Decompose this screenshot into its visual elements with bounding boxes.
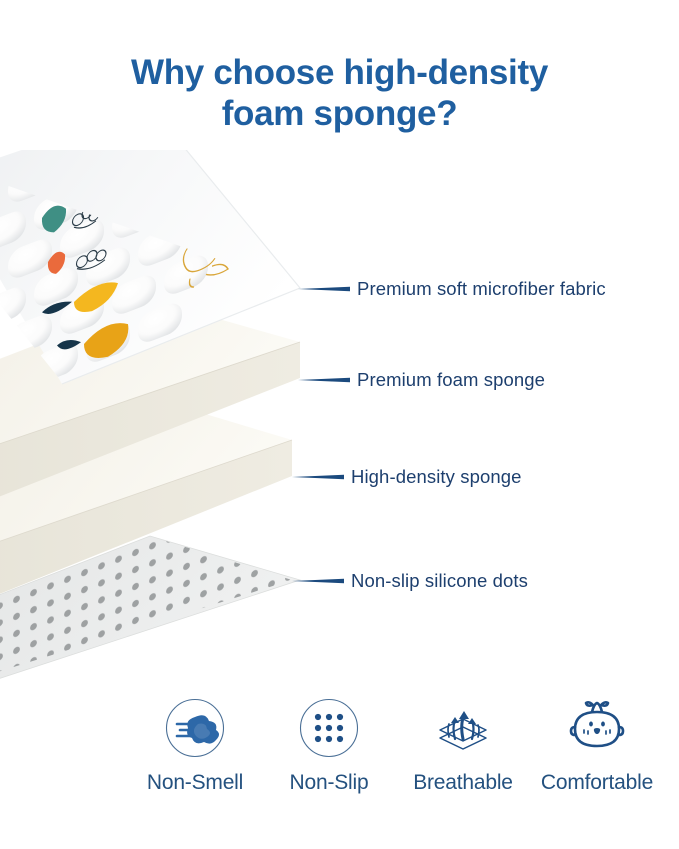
page-title-line-1: Why choose high-density xyxy=(0,52,679,93)
callout-label: Non-slip silicone dots xyxy=(351,570,528,592)
exploded-mattress-diagram xyxy=(0,150,340,690)
callout-label: High-density sponge xyxy=(351,466,522,488)
callout-premium-foam-sponge: Premium foam sponge xyxy=(298,367,545,393)
callout-premium-soft-microfiber-fabric: Premium soft microfiber fabric xyxy=(298,276,606,302)
callout-non-slip-silicone-dots: Non-slip silicone dots xyxy=(292,568,528,594)
dot-grid-icon xyxy=(298,697,360,759)
feature-comfortable: Comfortable xyxy=(534,697,660,795)
feature-breathable: Breathable xyxy=(400,697,526,795)
feature-row: Non-Smell Non-Slip xyxy=(132,697,660,795)
leader-line-icon xyxy=(298,377,350,383)
leader-line-icon xyxy=(292,578,344,584)
leader-line-icon xyxy=(298,286,350,292)
feature-label: Non-Smell xyxy=(147,771,243,795)
feature-label: Comfortable xyxy=(541,771,653,795)
airflow-layers-icon xyxy=(432,697,494,759)
callout-high-density-sponge: High-density sponge xyxy=(292,464,522,490)
feature-label: Non-Slip xyxy=(290,771,369,795)
leader-line-icon xyxy=(292,474,344,480)
page-title: Why choose high-density foam sponge? xyxy=(0,52,679,135)
feature-label: Breathable xyxy=(413,771,513,795)
callout-label: Premium soft microfiber fabric xyxy=(357,278,606,300)
feature-non-slip: Non-Slip xyxy=(266,697,392,795)
callout-label: Premium foam sponge xyxy=(357,369,545,391)
feature-non-smell: Non-Smell xyxy=(132,697,258,795)
page-title-line-2: foam sponge? xyxy=(0,93,679,134)
smell-waves-icon xyxy=(164,697,226,759)
baby-face-icon xyxy=(566,697,628,759)
